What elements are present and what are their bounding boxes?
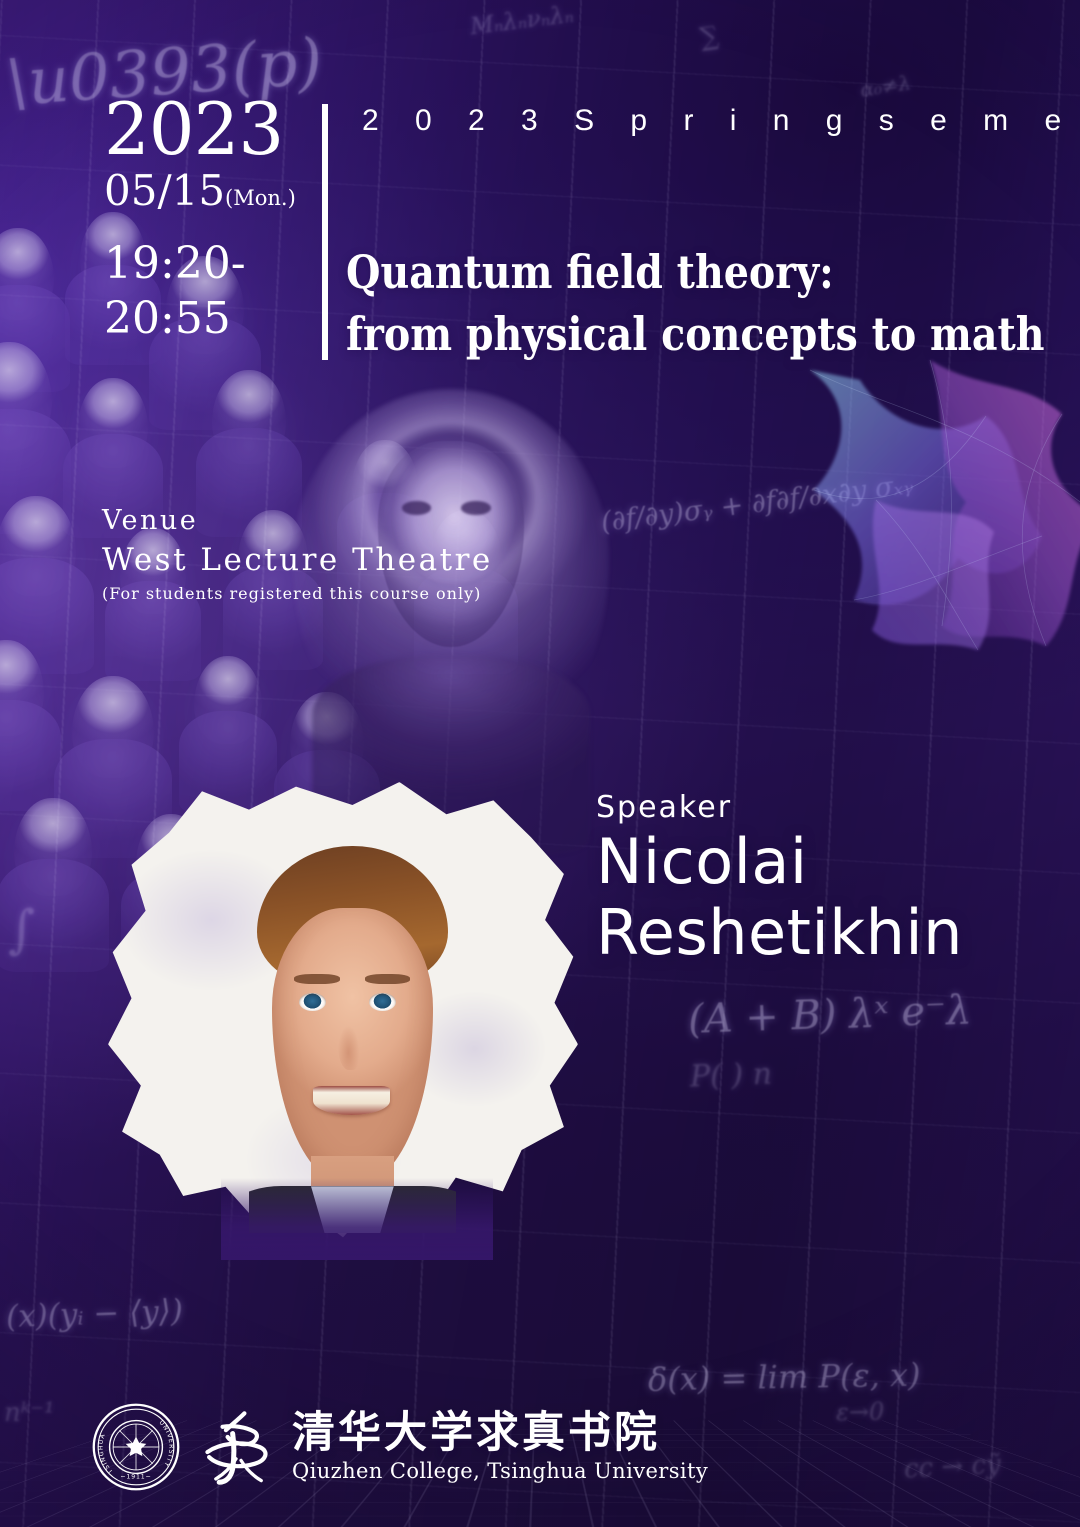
organization-name-cn: 清华大学求真书院 xyxy=(292,1411,708,1457)
zhen-calligraphy-icon xyxy=(194,1405,278,1489)
date-block: 2023 05/15(Mon.) 19:20- 20:55 xyxy=(104,96,296,346)
event-time: 19:20- 20:55 xyxy=(104,236,296,346)
vertical-divider xyxy=(322,104,328,360)
title-line-1: Quantum field theory: xyxy=(346,242,948,304)
speaker-name-line-1: Nicolai xyxy=(596,829,963,896)
venue-note: (For students registered this course onl… xyxy=(102,584,493,603)
poster-root: \u0393(p) Mₙλₙνₙλₙ ∑ α₀≠λ (∂f/∂y)σᵧ + ∂f… xyxy=(0,0,1080,1527)
event-year: 2023 xyxy=(104,96,296,162)
venue-label: Venue xyxy=(102,505,493,536)
event-time-start: 19:20- xyxy=(104,236,296,291)
title-line-2: from physical concepts to math xyxy=(346,304,948,366)
event-time-end: 20:55 xyxy=(104,291,296,346)
footer-organization: 清华大学求真书院 Qiuzhen College, Tsinghua Unive… xyxy=(292,1411,708,1484)
tsinghua-seal-icon: TSINGHUA UNIVERSITY ~1911~ xyxy=(92,1403,180,1491)
event-date: 05/15(Mon.) xyxy=(104,168,296,214)
venue-value: West Lecture Theatre xyxy=(102,542,493,578)
speaker-label: Speaker xyxy=(596,790,963,825)
venue-block: Venue West Lecture Theatre (For students… xyxy=(102,505,493,603)
semester-label: 2 0 2 3 S p r i n g s e m e s t e r xyxy=(362,104,1080,138)
speaker-name-line-2: Reshetikhin xyxy=(596,900,963,967)
footer: TSINGHUA UNIVERSITY ~1911~ xyxy=(92,1403,708,1491)
svg-text:~1911~: ~1911~ xyxy=(120,1474,151,1481)
speaker-block: Speaker Nicolai Reshetikhin xyxy=(596,790,963,967)
organization-name-en: Qiuzhen College, Tsinghua University xyxy=(292,1459,708,1483)
event-date-value: 05/15 xyxy=(104,166,225,215)
event-day-of-week: (Mon.) xyxy=(225,186,296,210)
page-title: Quantum field theory: from physical conc… xyxy=(346,242,948,365)
